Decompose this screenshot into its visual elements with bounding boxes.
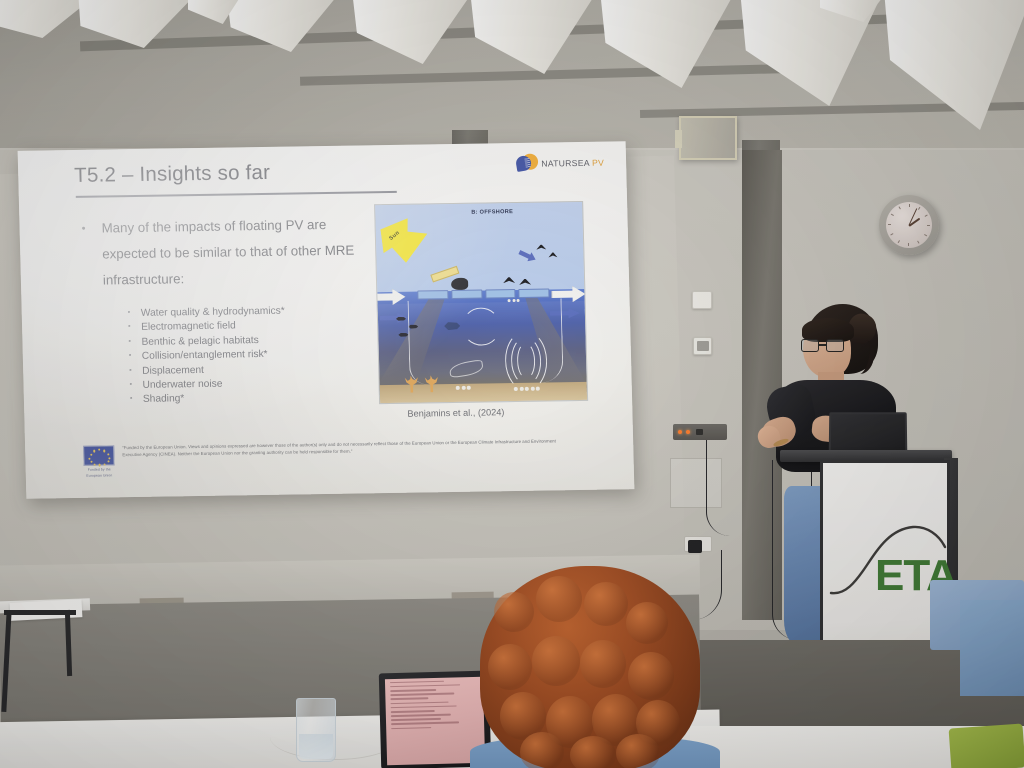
eu-flag-caption-line2: European Union [84, 474, 115, 479]
media-port[interactable] [696, 429, 703, 435]
projection-screen: T5.2 – Insights so far NATURSEA PV • Man… [18, 141, 635, 498]
impact-list: Water quality & hydrodynamics* Electroma… [128, 305, 288, 408]
figure-caption: Benjamins et al., (2024) [407, 407, 504, 419]
main-bullet-text: Many of the impacts of floating PV are e… [101, 212, 358, 294]
chair [960, 600, 1024, 696]
wall-clock [879, 195, 939, 255]
eu-flag-caption-line1: Funded by the [84, 467, 115, 472]
logo-wordmark: NATURSEA PV [541, 158, 604, 169]
pv-panel [519, 288, 550, 297]
eu-funding-block: Funded by the European Union "Funded by … [83, 438, 575, 479]
status-led [686, 430, 690, 434]
benthic-deposit-icon [456, 386, 471, 390]
presentation-slide: T5.2 – Insights so far NATURSEA PV • Man… [18, 141, 635, 498]
title-underline [76, 191, 397, 198]
pv-panel [417, 290, 448, 299]
main-bullet: • Many of the impacts of floating PV are… [81, 212, 358, 294]
glasses-icon [801, 339, 847, 352]
conference-room-photo: T5.2 – Insights so far NATURSEA PV • Man… [0, 0, 1024, 768]
audience-member [480, 566, 700, 768]
pv-panel [451, 290, 482, 299]
media-connection-panel[interactable] [673, 424, 727, 440]
list-item: Shading* [130, 391, 287, 408]
clock-face [886, 202, 932, 248]
water-drop-icon [516, 153, 539, 175]
ceiling-speaker [679, 116, 737, 160]
light-switch[interactable] [692, 291, 712, 309]
slide-title: T5.2 – Insights so far [74, 161, 270, 188]
logo-name: NATURSEA [541, 158, 589, 169]
back-table-legs [4, 610, 76, 716]
eu-flag-group: Funded by the European Union [83, 445, 115, 478]
cable [706, 440, 730, 536]
status-led [678, 430, 682, 434]
benthic-deposit-icon [514, 387, 540, 391]
water-glass [296, 698, 336, 762]
eu-flag-icon [83, 445, 115, 465]
mooring-cable [408, 300, 428, 384]
natursea-pv-logo: NATURSEA PV [516, 152, 604, 175]
bullet-marker: • [81, 216, 86, 242]
green-chair [949, 723, 1024, 768]
seal-icon [451, 278, 468, 290]
bubble-icon [508, 299, 520, 302]
pv-panel [485, 289, 516, 298]
funding-disclaimer: "Funded by the European Union. Views and… [122, 438, 574, 458]
room-control-panel[interactable] [693, 337, 712, 355]
logo-suffix: PV [589, 158, 604, 168]
podium-laptop-screen[interactable] [829, 412, 908, 454]
figure-panel-label: B: OFFSHORE [471, 209, 513, 216]
offshore-diagram-figure: B: OFFSHORE Sun [374, 201, 588, 404]
